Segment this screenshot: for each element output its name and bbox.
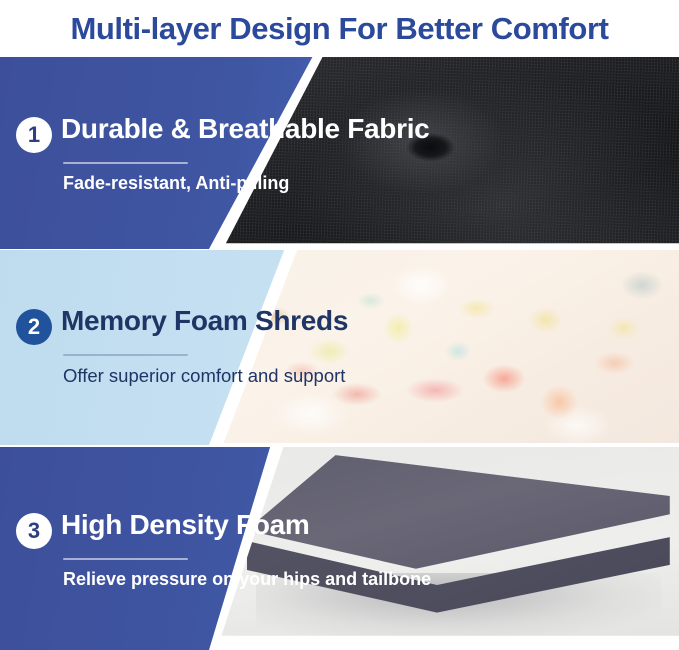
panel-2-step-badge: 2 <box>16 309 52 345</box>
panel-2-divider <box>63 354 188 356</box>
panel-3-step-badge: 3 <box>16 513 52 549</box>
panel-2-subtitle: Offer superior comfort and support <box>63 364 348 388</box>
panel-1-divider <box>63 162 188 164</box>
feature-panel-3: 3 High Density Foam Relieve pressure on … <box>0 447 679 650</box>
panel-1-step-badge: 1 <box>16 117 52 153</box>
panel-3-heading-row: 3 High Density Foam <box>16 510 431 549</box>
panel-1-heading-row: 1 Durable & Breathable Fabric <box>16 114 429 153</box>
page-title: Multi-layer Design For Better Comfort <box>70 13 608 44</box>
panel-3-divider <box>63 558 188 560</box>
panel-3-heading: High Density Foam <box>61 510 310 541</box>
panel-2-content: 2 Memory Foam Shreds Offer superior comf… <box>16 250 348 445</box>
panel-1-heading: Durable & Breathable Fabric <box>61 114 429 145</box>
panel-3-content: 3 High Density Foam Relieve pressure on … <box>16 447 431 650</box>
page-title-bar: Multi-layer Design For Better Comfort <box>0 0 679 57</box>
panel-3-subtitle: Relieve pressure on your hips and tailbo… <box>63 568 431 591</box>
multi-layer-design-infographic: Multi-layer Design For Better Comfort 1 … <box>0 0 679 650</box>
panel-1-content: 1 Durable & Breathable Fabric Fade-resis… <box>16 57 429 249</box>
panel-1-subtitle: Fade-resistant, Anti-pilling <box>63 172 429 195</box>
panel-2-heading-row: 2 Memory Foam Shreds <box>16 306 348 345</box>
panel-2-heading: Memory Foam Shreds <box>61 306 348 337</box>
feature-panel-2: 2 Memory Foam Shreds Offer superior comf… <box>0 250 679 445</box>
feature-panel-1: 1 Durable & Breathable Fabric Fade-resis… <box>0 57 679 249</box>
